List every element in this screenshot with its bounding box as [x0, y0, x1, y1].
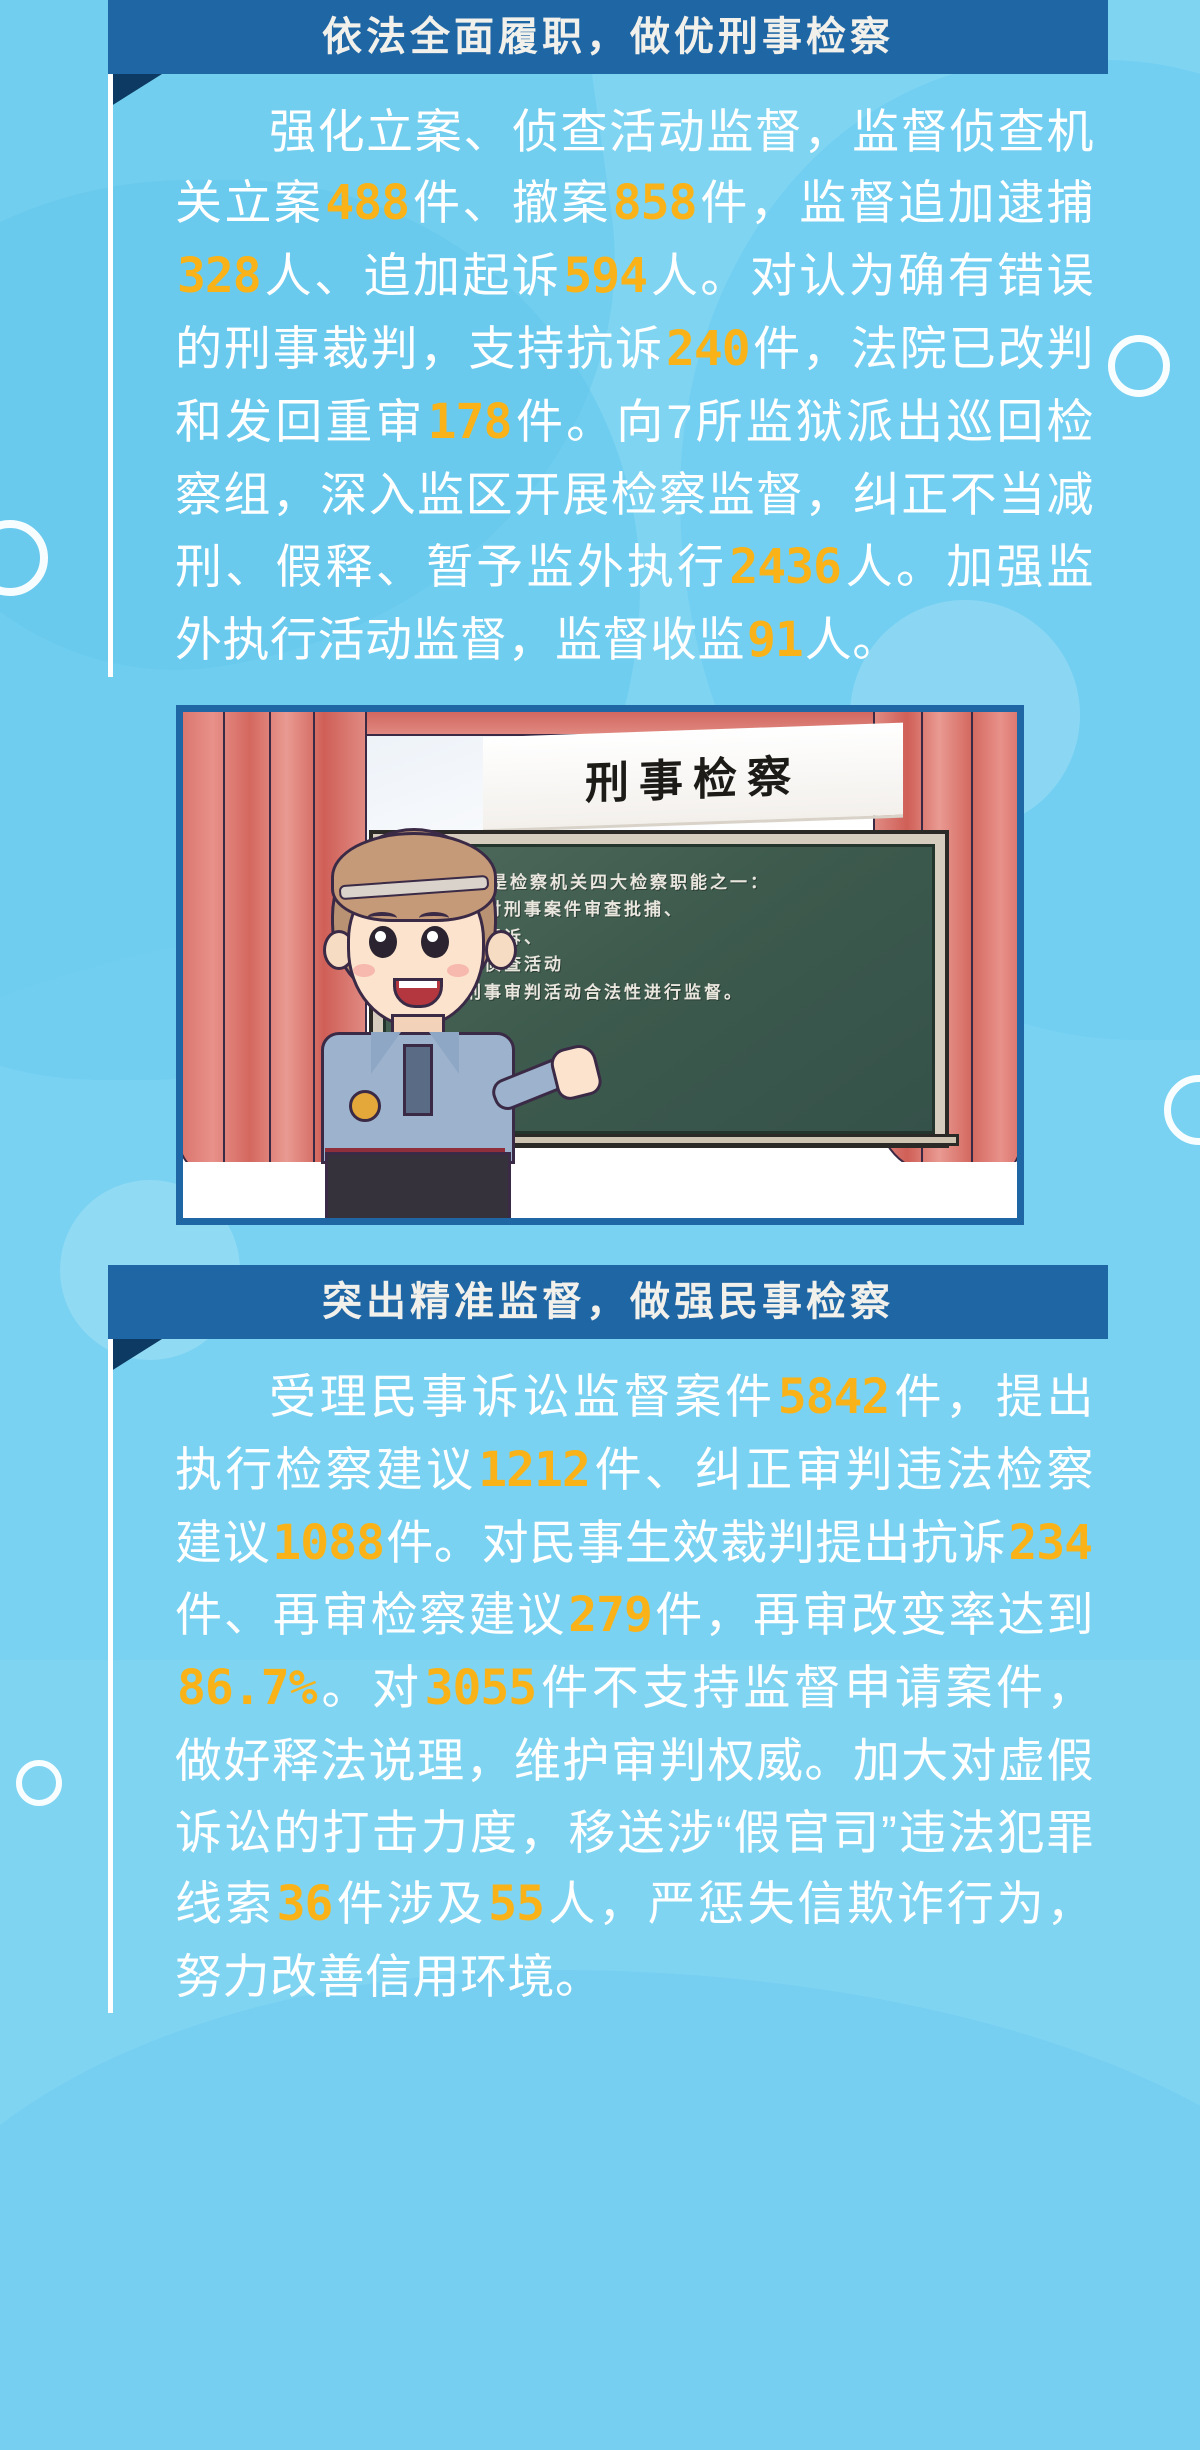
section-criminal-prosecution: 依法全面履职，做优刑事检察 强化立案、侦查活动监督，监督侦查机关立案488件、撤… — [0, 0, 1200, 1225]
highlight-number: 91 — [745, 612, 805, 668]
section-body: 强化立案、侦查活动监督，监督侦查机关立案488件、撤案858件，监督追加逮捕32… — [108, 74, 1200, 677]
illustration-card: 刑事检察 刑事检察是检察机关四大检察职能之一： 主要对刑事案件审查批捕、 审查起… — [176, 705, 1024, 1225]
background-wave-e — [0, 1970, 1200, 2450]
character-collar-left — [371, 1032, 401, 1074]
character-cheek-left — [353, 964, 375, 977]
highlight-number: 5842 — [776, 1369, 892, 1425]
infographic-page: 依法全面履职，做优刑事检察 强化立案、侦查活动监督，监督侦查机关立案488件、撤… — [0, 0, 1200, 2450]
highlight-number: 328 — [175, 248, 263, 304]
content-column: 依法全面履职，做优刑事检察 强化立案、侦查活动监督，监督侦查机关立案488件、撤… — [0, 0, 1200, 2013]
curtain-pleat — [223, 705, 225, 1172]
highlight-number: 36 — [275, 1876, 335, 1932]
section-banner-bar: 依法全面履职，做优刑事检察 — [108, 0, 1108, 74]
highlight-number: 234 — [1006, 1515, 1094, 1571]
character-collar-right — [429, 1032, 459, 1074]
character-skirt — [325, 1152, 511, 1225]
character-badge-icon — [349, 1090, 381, 1122]
highlight-number: 55 — [486, 1876, 546, 1932]
curtain-pleat — [971, 705, 973, 1172]
highlight-number: 1212 — [476, 1442, 592, 1498]
highlight-number: 86.7% — [175, 1660, 319, 1716]
illustration-wrapper: 刑事检察 刑事检察是检察机关四大检察职能之一： 主要对刑事案件审查批捕、 审查起… — [0, 705, 1200, 1225]
section-banner: 突出精准监督，做强民事检察 — [0, 1265, 1200, 1339]
section-civil-prosecution: 突出精准监督，做强民事检察 受理民事诉讼监督案件5842件，提出执行检察建议12… — [0, 1265, 1200, 2013]
highlight-number: 3055 — [423, 1660, 539, 1716]
plaque-title: 刑事检察 — [585, 740, 801, 812]
highlight-number: 488 — [323, 175, 411, 231]
section-title: 依法全面履职，做优刑事检察 — [322, 17, 894, 57]
highlight-number: 1088 — [270, 1515, 386, 1571]
curtain-pleat — [269, 705, 271, 1172]
character-eye-right — [421, 926, 449, 958]
highlight-number: 178 — [426, 394, 514, 450]
section-body: 受理民事诉讼监督案件5842件，提出执行检察建议1212件、纠正审判违法检察建议… — [108, 1339, 1200, 2013]
highlight-number: 858 — [611, 175, 699, 231]
character-ear-right — [485, 930, 517, 970]
character-eye-left — [369, 926, 397, 958]
section-spacer — [0, 1225, 1200, 1265]
section-title: 突出精准监督，做强民事检察 — [322, 1282, 894, 1322]
illustration-plaque: 刑事检察 — [483, 722, 903, 832]
section-banner: 依法全面履职，做优刑事检察 — [0, 0, 1200, 74]
highlight-number: 594 — [561, 248, 649, 304]
highlight-number: 240 — [664, 321, 752, 377]
section-banner-bar: 突出精准监督，做强民事检察 — [108, 1265, 1108, 1339]
section-paragraph: 受理民事诉讼监督案件5842件，提出执行检察建议1212件、纠正审判违法检察建议… — [113, 1361, 1128, 2013]
section-paragraph: 强化立案、侦查活动监督，监督侦查机关立案488件、撤案858件，监督追加逮捕32… — [113, 96, 1128, 677]
character-tie — [403, 1044, 433, 1116]
character-eyebrow-left — [367, 912, 397, 924]
character-cheek-right — [447, 964, 469, 977]
character-eyebrow-right — [419, 912, 449, 924]
prosecutor-character — [295, 818, 545, 1218]
highlight-number: 2436 — [727, 539, 843, 595]
highlight-number: 279 — [566, 1587, 654, 1643]
